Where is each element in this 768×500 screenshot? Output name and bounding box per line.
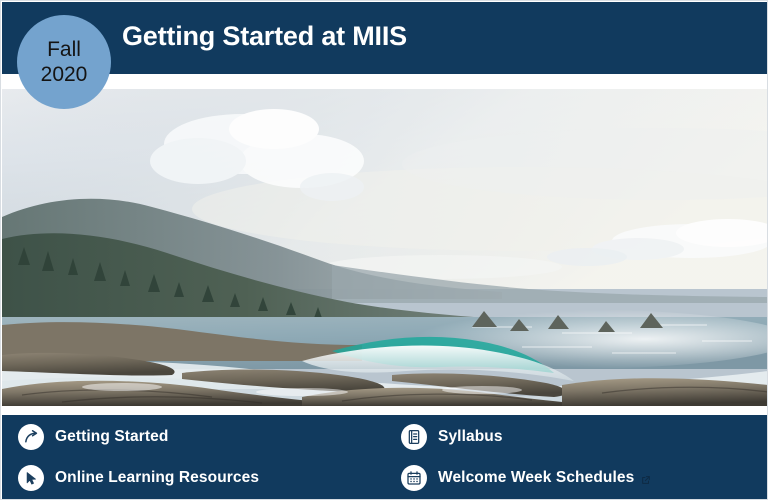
term-badge-year: 2020 [41, 62, 88, 87]
nav-label: Getting Started [55, 428, 168, 446]
nav-label: Online Learning Resources [55, 469, 259, 487]
banner-artwork [2, 89, 768, 406]
course-banner-image [2, 89, 768, 406]
course-home-card: Getting Started at MIIS Fall 2020 [0, 0, 768, 500]
nav-item-syllabus[interactable]: Syllabus [385, 418, 768, 456]
curved-arrow-icon [18, 424, 44, 450]
nav-item-welcome-week-schedules[interactable]: Welcome Week Schedules [385, 459, 768, 497]
nav-item-getting-started[interactable]: Getting Started [2, 418, 385, 456]
document-icon [401, 424, 427, 450]
cursor-pointer-icon [18, 465, 44, 491]
term-badge-season: Fall [47, 37, 81, 62]
external-link-icon [641, 475, 651, 485]
nav-item-online-learning-resources[interactable]: Online Learning Resources [2, 459, 385, 497]
calendar-icon [401, 465, 427, 491]
page-header: Getting Started at MIIS [2, 2, 768, 74]
term-badge: Fall 2020 [17, 15, 111, 109]
nav-label: Welcome Week Schedules [438, 469, 634, 487]
page-title: Getting Started at MIIS [122, 21, 407, 52]
nav-label: Syllabus [438, 428, 503, 446]
course-quick-links: Getting Started Syllabus O [2, 415, 768, 500]
